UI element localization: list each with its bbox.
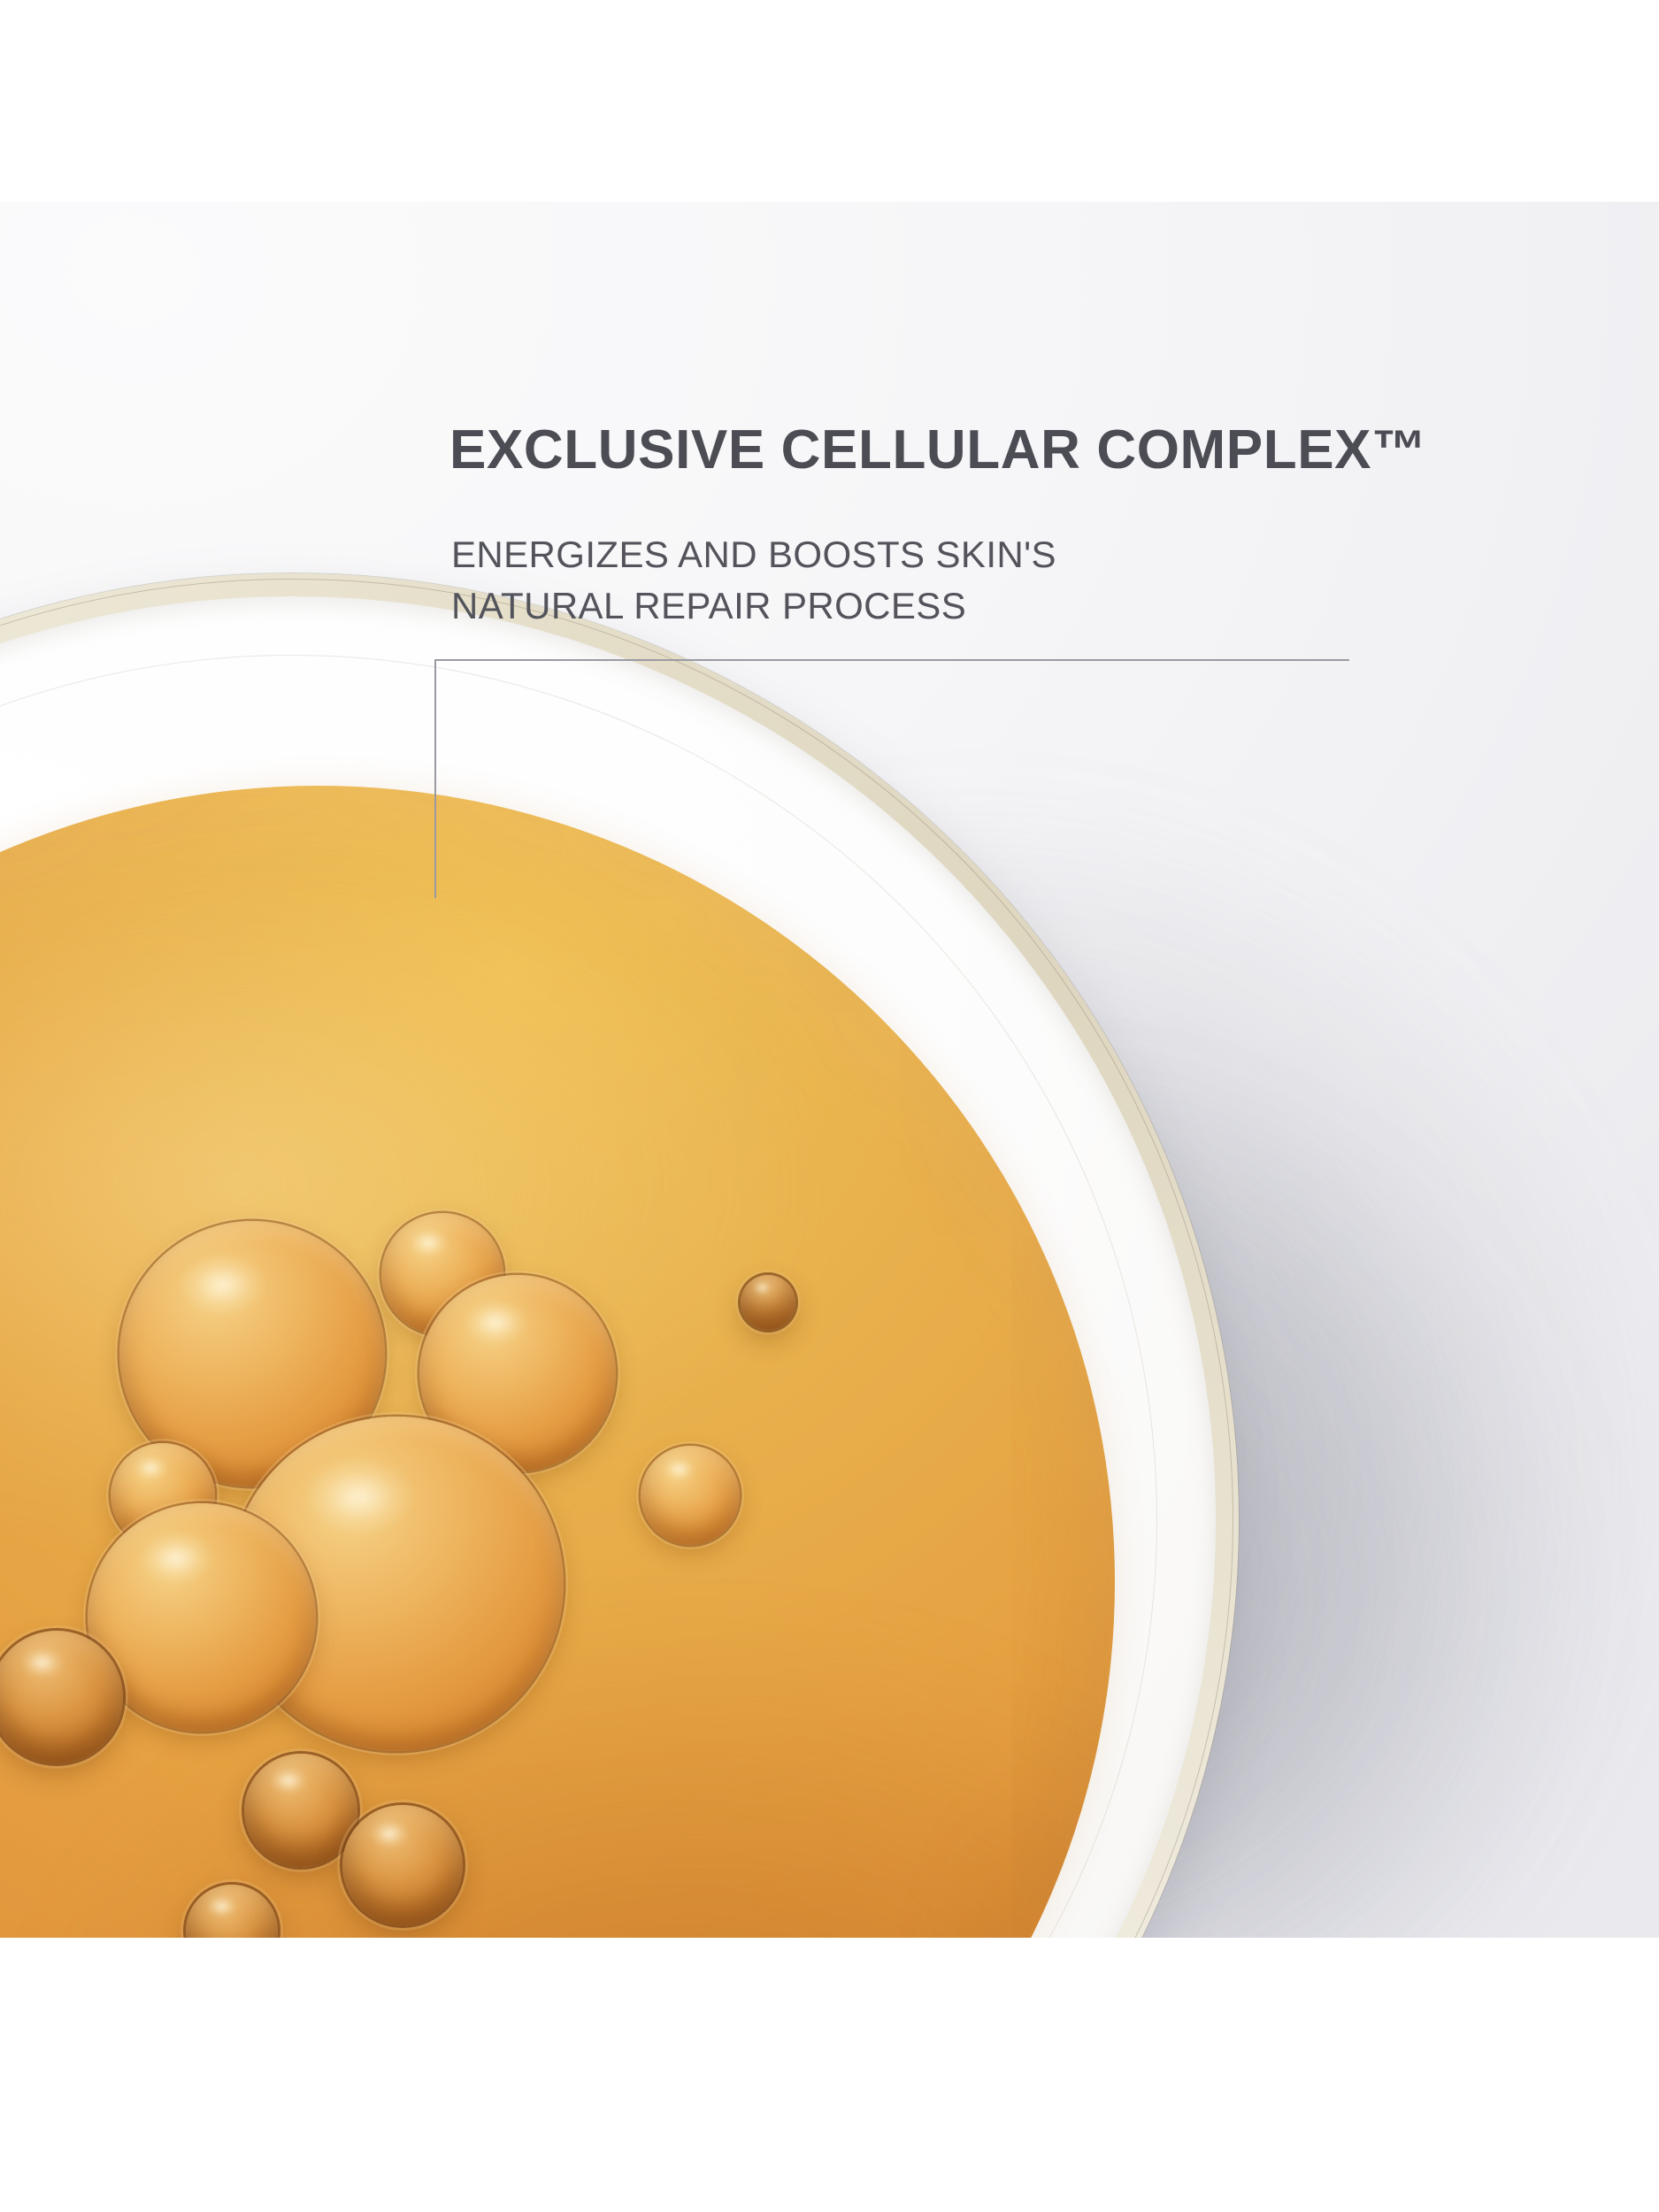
bubble-lower-mid	[342, 1805, 463, 1925]
bubble-right-edge	[641, 1446, 740, 1545]
callout-leader-line-vertical	[434, 659, 436, 898]
page-title: EXCLUSIVE CELLULAR COMPLEX™	[449, 423, 1427, 478]
bubble-lower-left-small	[244, 1754, 357, 1867]
product-callout-image: EXCLUSIVE CELLULAR COMPLEX™ ENERGIZES AN…	[0, 0, 1659, 2212]
page-subtitle: ENERGIZES AND BOOSTS SKIN'S NATURAL REPA…	[451, 529, 1056, 632]
callout-leader-line-horizontal	[434, 659, 1349, 661]
bubble-isolated-droplet	[741, 1275, 795, 1330]
